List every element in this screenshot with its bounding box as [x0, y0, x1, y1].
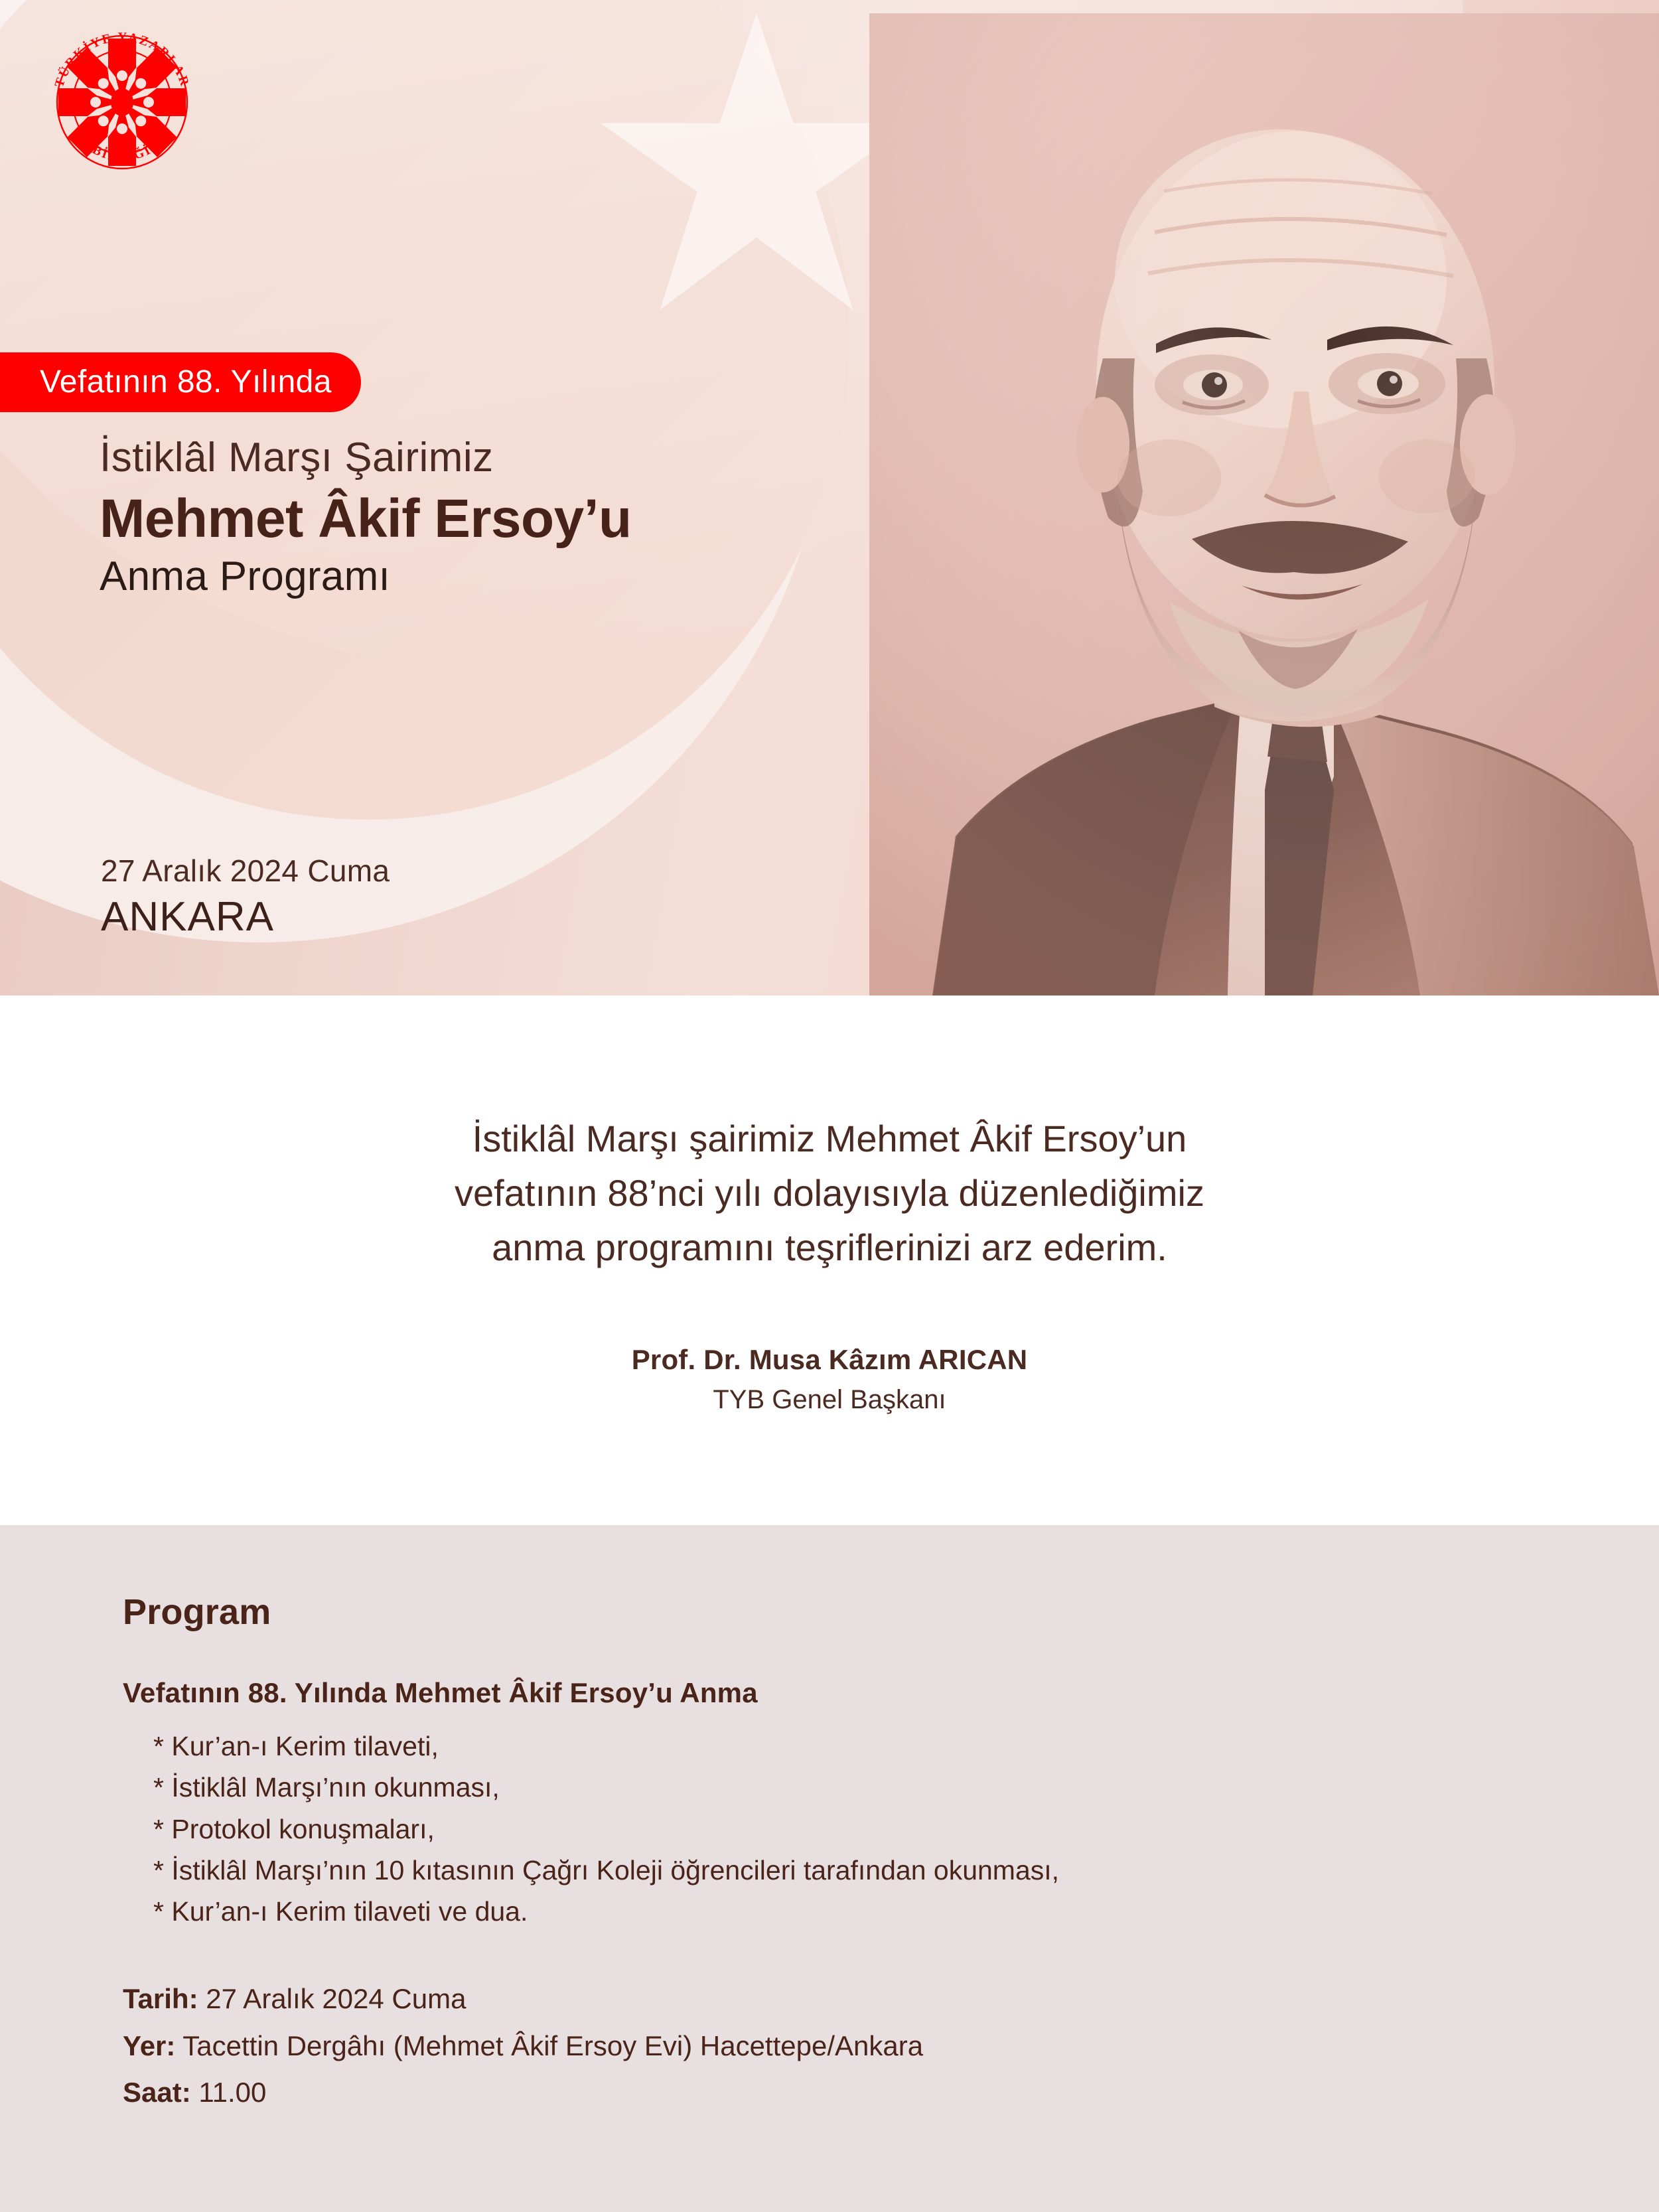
program-list-item: * Kur’an-ı Kerim tilaveti ve dua. [123, 1891, 1059, 1932]
invitation-line-3: anma programını teşriflerinizi arz ederi… [0, 1220, 1659, 1275]
anniversary-badge-label: Vefatının 88. Yılında [40, 366, 332, 398]
hero-title-line1: İstiklâl Marşı Şairimiz [100, 435, 962, 480]
program-subheading: Vefatının 88. Yılında Mehmet Âkif Ersoy’… [123, 1677, 758, 1709]
hero-title-line3: Anma Programı [100, 553, 962, 599]
turkiye-yazarlar-birligi-logo: TÜRKİYE YAZARLAR BİRLİĞİ [45, 25, 199, 179]
hero-title-block: İstiklâl Marşı Şairimiz Mehmet Âkif Erso… [100, 435, 962, 600]
event-time-label: Saat: [123, 2077, 191, 2108]
event-date-label: Tarih: [123, 1983, 198, 2014]
program-list-item: * Protokol konuşmaları, [123, 1808, 1059, 1850]
event-time-value: 11.00 [191, 2077, 267, 2108]
hero-title-line2: Mehmet Âkif Ersoy’u [100, 488, 962, 550]
signer-name: Prof. Dr. Musa Kâzım ARICAN [0, 1344, 1659, 1376]
event-time-row: Saat: 11.00 [123, 2075, 923, 2111]
hero-event-city: ANKARA [101, 893, 390, 940]
event-place-value: Tacettin Dergâhı (Mehmet Âkif Ersoy Evi)… [175, 2030, 923, 2061]
poster: TÜRKİYE YAZARLAR BİRLİĞİ Vefatının 88. Y… [0, 0, 1659, 2212]
invitation-line-2: vefatının 88’nci yılı dolayısıyla düzenl… [0, 1166, 1659, 1220]
event-date-row: Tarih: 27 Aralık 2024 Cuma [123, 1981, 923, 2018]
signer-role: TYB Genel Başkanı [0, 1385, 1659, 1415]
event-place-row: Yer: Tacettin Dergâhı (Mehmet Âkif Ersoy… [123, 2028, 923, 2065]
invitation-text: İstiklâl Marşı şairimiz Mehmet Âkif Erso… [0, 995, 1659, 1274]
program-list-item: * İstiklâl Marşı’nın 10 kıtasının Çağrı … [123, 1850, 1059, 1891]
invitation-line-1: İstiklâl Marşı şairimiz Mehmet Âkif Erso… [0, 1112, 1659, 1166]
event-date-value: 27 Aralık 2024 Cuma [198, 1983, 467, 2014]
hero-date-city-block: 27 Aralık 2024 Cuma ANKARA [101, 853, 390, 940]
program-item-list: * Kur’an-ı Kerim tilaveti, * İstiklâl Ma… [123, 1726, 1059, 1933]
portrait-photo [843, 0, 1659, 995]
hero-section: TÜRKİYE YAZARLAR BİRLİĞİ Vefatının 88. Y… [0, 0, 1659, 995]
anniversary-badge: Vefatının 88. Yılında [0, 352, 361, 412]
hero-event-date: 27 Aralık 2024 Cuma [101, 853, 390, 889]
program-list-item: * İstiklâl Marşı’nın okunması, [123, 1767, 1059, 1808]
signature-block: Prof. Dr. Musa Kâzım ARICAN TYB Genel Ba… [0, 1274, 1659, 1415]
invitation-section: İstiklâl Marşı şairimiz Mehmet Âkif Erso… [0, 995, 1659, 1525]
event-details-block: Tarih: 27 Aralık 2024 Cuma Yer: Tacettin… [123, 1981, 923, 2122]
program-list-item: * Kur’an-ı Kerim tilaveti, [123, 1726, 1059, 1767]
program-heading: Program [123, 1591, 271, 1633]
event-place-label: Yer: [123, 2030, 175, 2061]
